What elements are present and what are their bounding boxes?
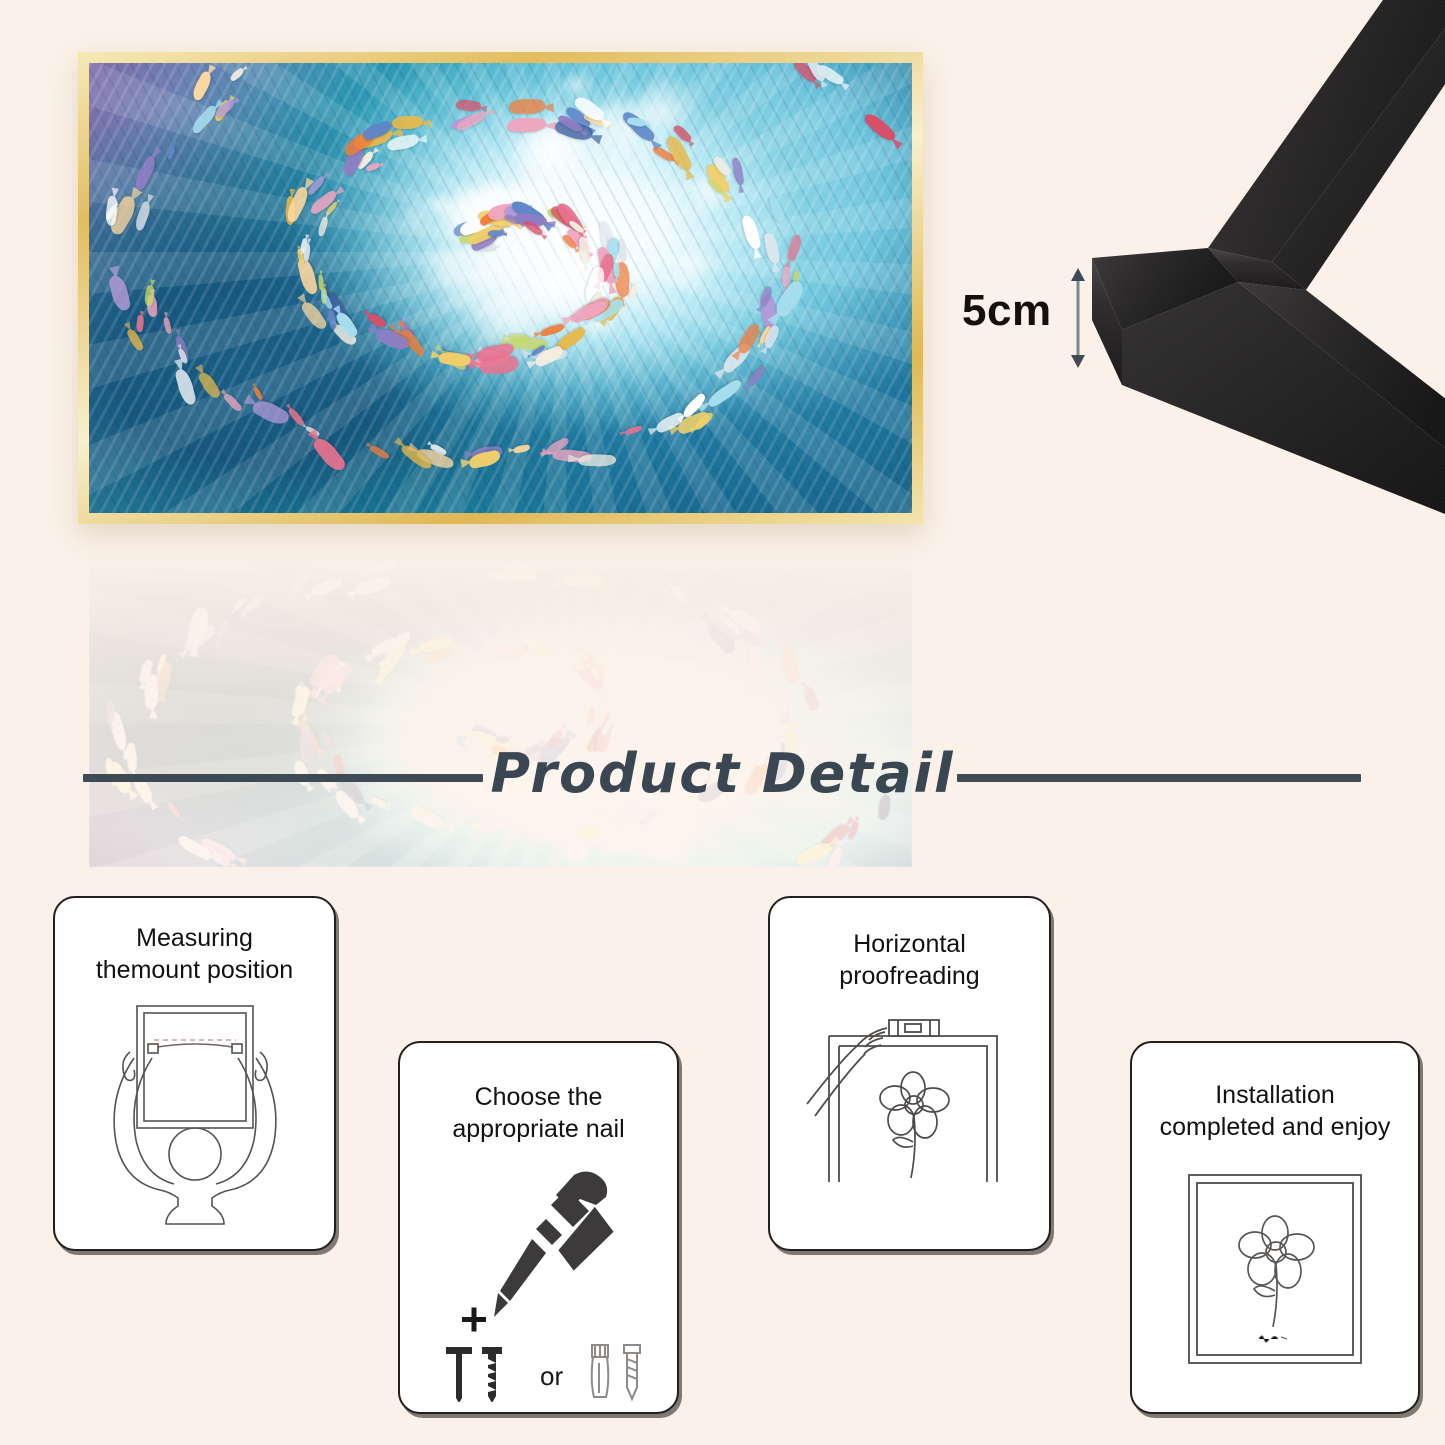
painting-fish [508,98,544,114]
painting-fish [508,562,530,572]
hammer-and-nails-icon: or [424,1167,654,1402]
depth-dimension-label: 5cm [962,286,1052,336]
wall-anchor [591,1345,608,1397]
nail-screw [482,1347,502,1402]
card-nail-title: Choose the appropriate nail [400,1081,677,1145]
card-measuring-mount-position[interactable]: Measuring themount position [53,896,336,1251]
painting-fish [318,275,323,291]
card-measuring-title: Measuring themount position [55,922,334,986]
anchor-screw [624,1345,640,1399]
daisy-flower-icon [880,1072,949,1178]
card-proofread-title-line1: Horizontal [784,928,1035,960]
painting-fish [106,700,115,724]
hand-with-spirit-level-icon [801,1012,1019,1202]
card-proofread-title-line2: proofreading [784,960,1035,992]
painting-fish [613,263,619,278]
card-nail-title-line1: Choose the [414,1081,663,1113]
painting-foam [421,245,481,287]
artwork-gold-frame [78,52,923,524]
card-nail-title-line2: appropriate nail [414,1113,663,1145]
card-measuring-title-line2: themount position [69,954,320,986]
section-title-row: Product Detail [0,742,1445,822]
artwork-painting [89,63,912,513]
card-measuring-title-line1: Measuring [69,922,320,954]
card-installed-title: Installation completed and enjoy [1132,1079,1418,1143]
nail-or-label: or [540,1361,563,1391]
person-holding-frame-icon [90,1000,300,1225]
card-horizontal-proofreading[interactable]: Horizontal proofreading [768,896,1051,1251]
black-wood-frame-corner [1060,0,1445,560]
daisy-flower-icon [1239,1216,1314,1327]
card-choose-nail[interactable]: Choose the appropriate nail [398,1041,679,1414]
framed-flower-artwork-icon [1175,1167,1375,1372]
painting-foam [529,138,598,186]
painting-foam [400,205,439,232]
card-installed-title-line1: Installation [1146,1079,1404,1111]
card-proofread-title: Horizontal proofreading [770,928,1049,992]
card-installation-completed[interactable]: Installation completed and enjoy [1130,1041,1420,1414]
nail-plain [446,1347,472,1402]
title-rule-right [957,774,1361,782]
card-installed-title-line2: completed and enjoy [1146,1111,1404,1143]
painting-fish [619,240,626,262]
artwork-signature [1259,1336,1287,1342]
